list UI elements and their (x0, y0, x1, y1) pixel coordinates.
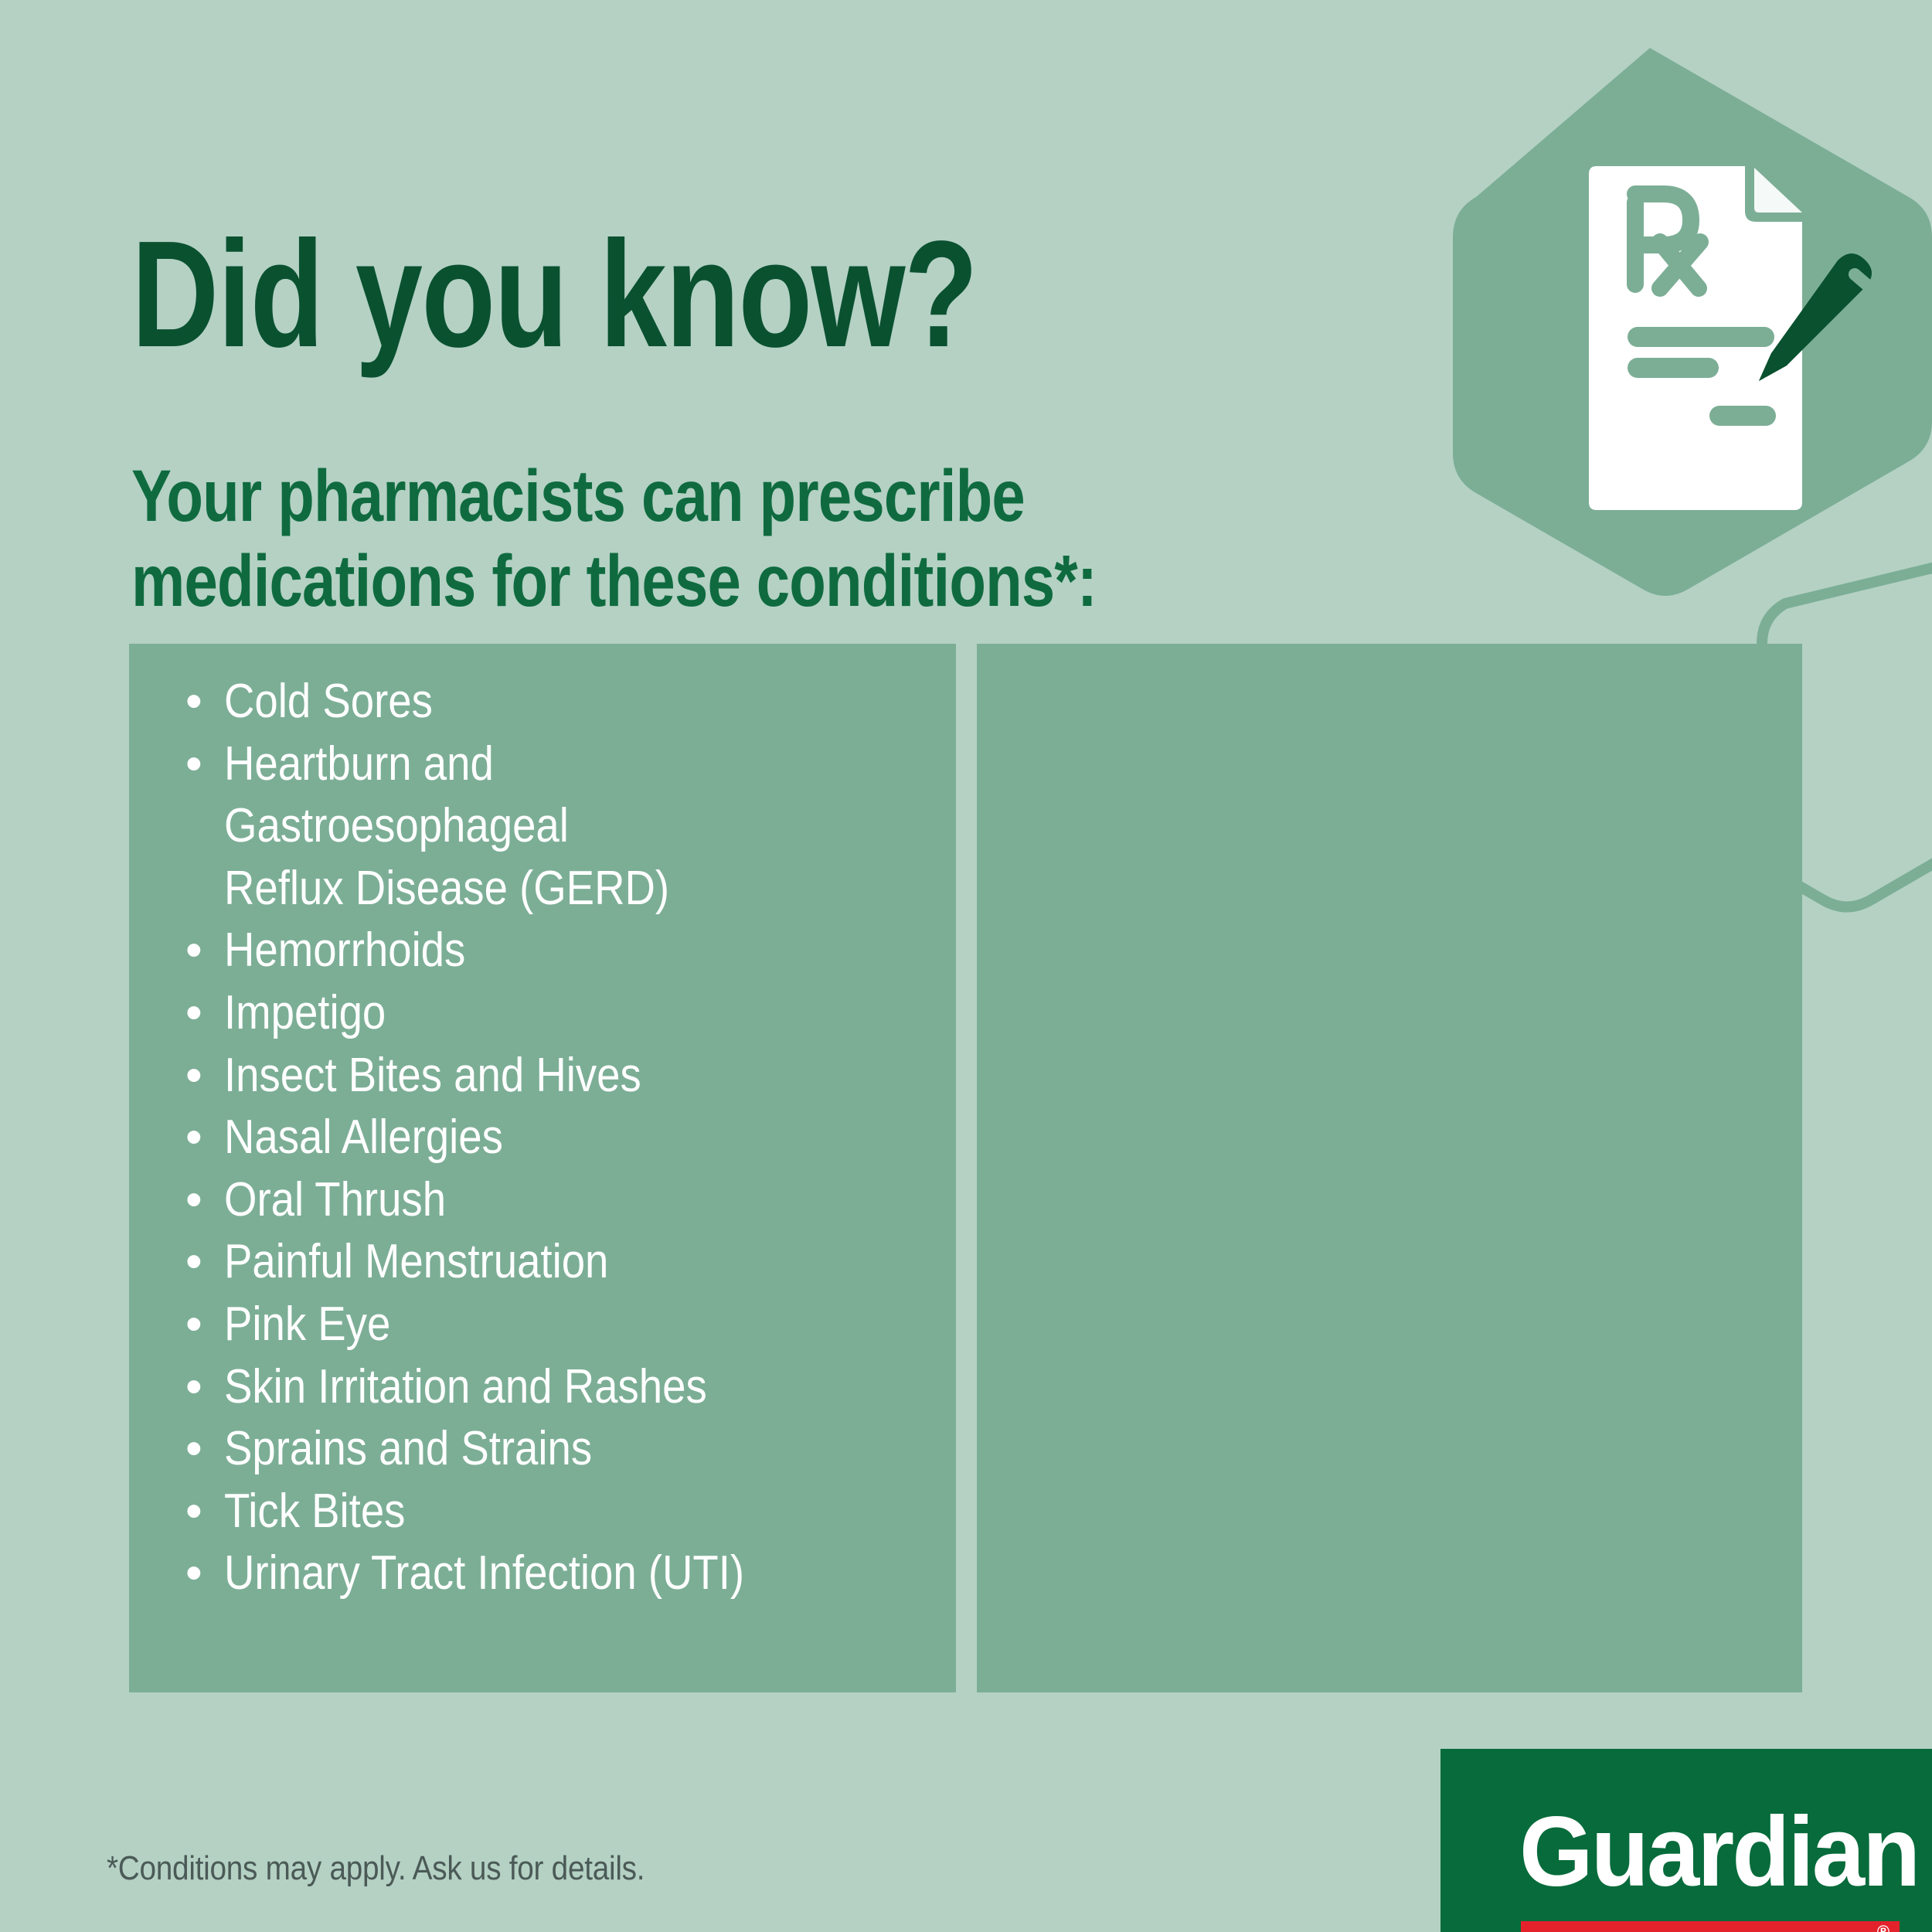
list-item: •Insect Bites and Hives (179, 1045, 921, 1107)
conditions-panel-right (977, 644, 1802, 1692)
bullet-icon: • (185, 1045, 202, 1107)
list-item: •Hemorrhoids (179, 920, 921, 982)
list-item-label: Skin Irritation and Rashes (224, 1356, 707, 1419)
list-item: •Urinary Tract Infection (UTI) (179, 1543, 921, 1605)
document-line-1 (1628, 327, 1774, 347)
bullet-icon: • (185, 671, 202, 733)
signature-line (1709, 406, 1776, 426)
registered-trademark-icon: ® (1873, 1922, 1893, 1932)
list-item: •Tick Bites (179, 1481, 921, 1543)
folded-corner (1754, 168, 1802, 213)
guardian-logo: Guardian ® (1440, 1749, 1932, 1932)
poster-canvas: Did you know? Your pharmacists can presc… (0, 0, 1932, 1932)
list-item-label: Urinary Tract Infection (UTI) (224, 1543, 744, 1605)
bullet-icon: • (185, 1231, 202, 1294)
logo-red-bar (1521, 1921, 1900, 1932)
list-item: •Cold Sores (179, 671, 921, 733)
list-item: •Sprains and Strains (179, 1418, 921, 1481)
page-title: Did you know? (131, 219, 977, 370)
conditions-list: •Cold Sores •Heartburn and Gastroesophag… (179, 671, 921, 1605)
list-item: •Oral Thrush (179, 1169, 921, 1232)
bullet-icon: • (185, 920, 202, 982)
list-item-label: Nasal Allergies (224, 1107, 503, 1169)
bullet-icon: • (185, 1169, 202, 1232)
bullet-icon: • (185, 1543, 202, 1605)
list-item-label: Pink Eye (224, 1294, 390, 1356)
list-item: •Heartburn and Gastroesophageal Reflux D… (179, 733, 921, 920)
list-item: •Pink Eye (179, 1294, 921, 1356)
logo-wordmark: Guardian (1519, 1803, 1918, 1902)
list-item-label: Painful Menstruation (224, 1231, 608, 1294)
list-item-label: Tick Bites (224, 1481, 405, 1543)
bullet-icon: • (185, 1107, 202, 1169)
bullet-icon: • (185, 1356, 202, 1419)
list-item: •Nasal Allergies (179, 1107, 921, 1169)
list-item-label: Hemorrhoids (224, 920, 465, 982)
prescription-document-with-pen-icon (1453, 43, 1932, 614)
footnote-text: *Conditions may apply. Ask us for detail… (107, 1849, 645, 1888)
list-item: •Skin Irritation and Rashes (179, 1356, 921, 1419)
bullet-icon: • (185, 1418, 202, 1481)
list-item-label: Cold Sores (224, 671, 433, 733)
list-item-label: Heartburn and Gastroesophageal Reflux Di… (224, 733, 838, 920)
list-item-label: Oral Thrush (224, 1169, 446, 1232)
bullet-icon: • (185, 1294, 202, 1356)
list-item-label: Impetigo (224, 982, 386, 1045)
page-subtitle: Your pharmacists can prescribe medicatio… (131, 454, 1097, 624)
list-item: •Painful Menstruation (179, 1231, 921, 1294)
list-item: •Impetigo (179, 982, 921, 1045)
list-item-label: Sprains and Strains (224, 1418, 592, 1481)
bullet-icon: • (185, 1481, 202, 1543)
bullet-icon: • (185, 982, 202, 1045)
document-line-2 (1628, 358, 1719, 378)
list-item-label: Insect Bites and Hives (224, 1045, 641, 1107)
bullet-icon: • (185, 733, 202, 796)
